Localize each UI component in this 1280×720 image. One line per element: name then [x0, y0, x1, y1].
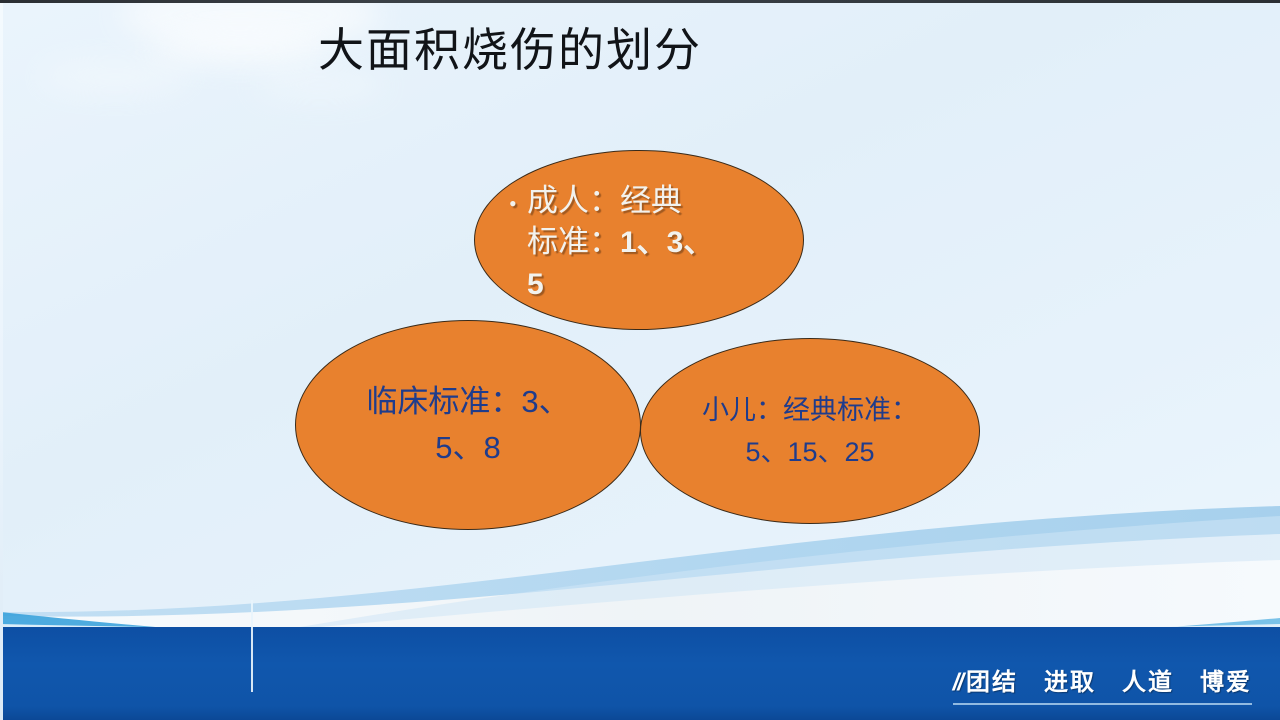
ellipse-pediatric-standard[interactable]: 小儿：经典标准： 5、15、25 [640, 338, 980, 524]
pediatric-line-1: 小儿：经典标准： [702, 395, 918, 425]
adult-line-2-label: 标准： [527, 224, 620, 259]
ellipse-adult-standard[interactable]: • 成人：经典 标准：1、3、 5 [474, 150, 804, 330]
pediatric-line-2-values: 5、15、25 [745, 437, 874, 467]
clinical-line-1-label: 临床标准： [366, 384, 521, 419]
slide-title: 大面积烧伤的划分 [0, 22, 1020, 80]
adult-line-1: 成人：经典 [527, 183, 682, 218]
footer-motto-text: 团结 进取 人道 博爱 [966, 669, 1252, 696]
footer-motto: //团结 进取 人道 博爱 [953, 662, 1252, 705]
slide-top-edge [0, 0, 1280, 3]
adult-line-2-values: 1、3、 [620, 226, 713, 259]
slashes-icon: // [953, 669, 962, 696]
clinical-line-1-values: 3、 [521, 384, 569, 419]
presentation-slide: 大面积烧伤的划分 • 成人：经典 标准：1、3、 5 临床标准：3、 5、8 小… [0, 0, 1280, 720]
ellipse-adult-text: • 成人：经典 标准：1、3、 5 [475, 180, 803, 305]
ellipse-pediatric-text: 小儿：经典标准： 5、15、25 [641, 389, 979, 473]
clinical-line-2-values: 5、8 [435, 430, 500, 465]
footer-divider [251, 600, 253, 692]
ellipse-clinical-standard[interactable]: 临床标准：3、 5、8 [295, 320, 641, 530]
slide-left-edge [0, 3, 3, 720]
adult-line-3-values: 5 [527, 268, 544, 301]
bullet-icon: • [509, 183, 517, 224]
ellipse-clinical-text: 临床标准：3、 5、8 [296, 379, 640, 471]
